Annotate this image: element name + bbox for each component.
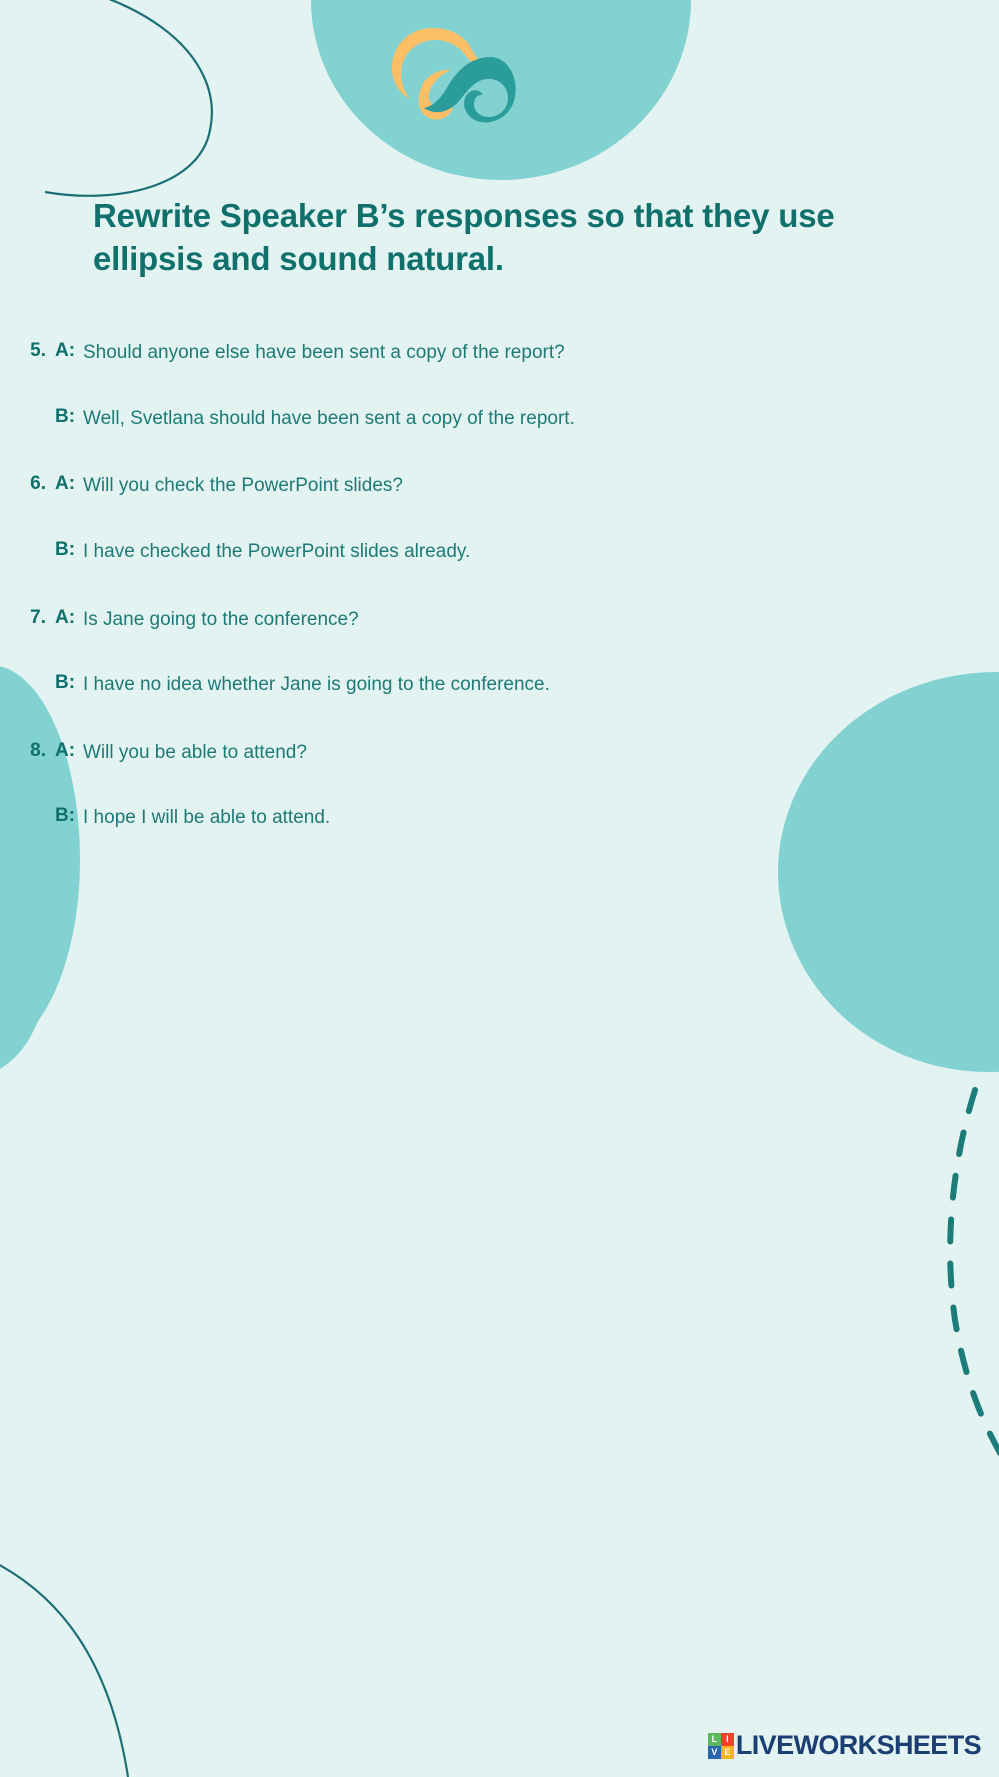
speaker-b-row: . B: I hope I will be able to attend. (0, 805, 999, 831)
question-list: 5. A: Should anyone else have been sent … (0, 340, 999, 873)
question-number: 6. (0, 473, 55, 495)
question-number: 7. (0, 607, 55, 629)
speaker-b-text: I have checked the PowerPoint slides alr… (83, 539, 743, 565)
speaker-b-label: B: (55, 672, 83, 694)
question-number: 5. (0, 340, 55, 362)
question-item: 5. A: Should anyone else have been sent … (0, 340, 999, 431)
question-number-spacer: . (0, 672, 55, 694)
speaker-a-text: Is Jane going to the conference? (83, 607, 743, 633)
speaker-a-label: A: (55, 607, 83, 629)
right-dashed-curve (950, 1090, 999, 1470)
question-number: 8. (0, 740, 55, 762)
speaker-a-row: 6. A: Will you check the PowerPoint slid… (0, 473, 999, 499)
liveworksheets-wordmark: LIVEWORKSHEETS (736, 1730, 981, 1761)
speaker-b-text: I have no idea whether Jane is going to … (83, 672, 743, 698)
speaker-a-row: 5. A: Should anyone else have been sent … (0, 340, 999, 366)
worksheet-page: Rewrite Speaker B’s responses so that th… (0, 0, 999, 1777)
speaker-a-row: 7. A: Is Jane going to the conference? (0, 607, 999, 633)
speaker-a-text: Should anyone else have been sent a copy… (83, 340, 743, 366)
badge-letter-e: E (721, 1746, 734, 1759)
speaker-a-text: Will you be able to attend? (83, 740, 743, 766)
liveworksheets-badge-icon: L I V E (708, 1733, 734, 1759)
speaker-a-row: 8. A: Will you be able to attend? (0, 740, 999, 766)
badge-letter-i: I (721, 1733, 734, 1746)
speaker-a-text: Will you check the PowerPoint slides? (83, 473, 743, 499)
speaker-b-text: I hope I will be able to attend. (83, 805, 743, 831)
question-item: 8. A: Will you be able to attend? . B: I… (0, 740, 999, 831)
speaker-b-label: B: (55, 406, 83, 428)
speaker-b-row: . B: I have checked the PowerPoint slide… (0, 539, 999, 565)
page-title: Rewrite Speaker B’s responses so that th… (93, 195, 883, 281)
speaker-b-row: . B: I have no idea whether Jane is goin… (0, 672, 999, 698)
badge-letter-v: V (708, 1746, 721, 1759)
swirl-logo (378, 22, 528, 132)
question-item: 6. A: Will you check the PowerPoint slid… (0, 473, 999, 564)
speaker-a-label: A: (55, 740, 83, 762)
question-number-spacer: . (0, 406, 55, 428)
speaker-a-label: A: (55, 473, 83, 495)
speaker-b-label: B: (55, 539, 83, 561)
top-left-thin-curve (0, 0, 212, 196)
speaker-a-label: A: (55, 340, 83, 362)
speaker-b-row: . B: Well, Svetlana should have been sen… (0, 406, 999, 432)
speaker-b-label: B: (55, 805, 83, 827)
speaker-b-text: Well, Svetlana should have been sent a c… (83, 406, 743, 432)
question-number-spacer: . (0, 805, 55, 827)
question-item: 7. A: Is Jane going to the conference? .… (0, 607, 999, 698)
liveworksheets-footer[interactable]: L I V E LIVEWORKSHEETS (708, 1730, 981, 1761)
badge-letter-l: L (708, 1733, 721, 1746)
bottom-left-thin-curve (0, 1560, 128, 1777)
question-number-spacer: . (0, 539, 55, 561)
